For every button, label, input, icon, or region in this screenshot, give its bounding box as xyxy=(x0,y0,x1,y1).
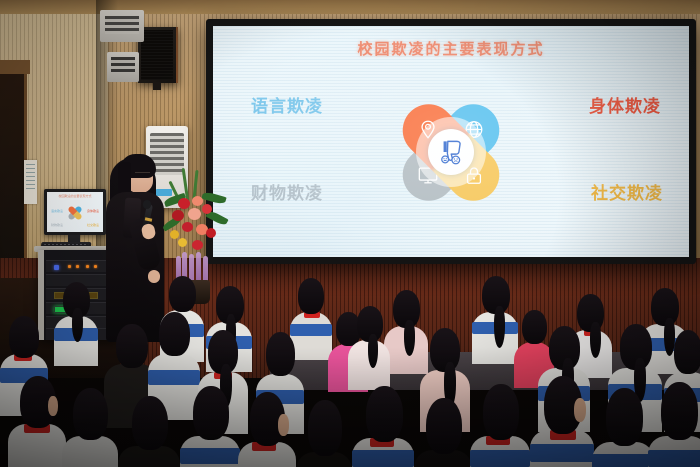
ac-vent-lower xyxy=(107,52,139,82)
student xyxy=(648,382,700,467)
photo-scene: 校园欺凌的主要表现方式 xyxy=(0,0,700,467)
student xyxy=(470,384,530,467)
monitor-label-2: 身体欺凌 xyxy=(87,209,99,213)
presentation-slide: 校园欺凌的主要表现方式 xyxy=(213,26,689,257)
ac-vent-upper xyxy=(100,10,144,42)
slide-label-social-bullying: 社交欺凌 xyxy=(591,179,663,204)
student xyxy=(592,388,654,467)
student xyxy=(62,388,118,467)
monitor-label-4: 社交欺凌 xyxy=(87,223,99,227)
student xyxy=(414,398,472,467)
slide-label-verbal-bullying: 语言欺凌 xyxy=(251,92,323,117)
student xyxy=(54,282,98,362)
student xyxy=(238,392,296,467)
slide-label-physical-bullying: 身体欺凌 xyxy=(589,92,661,117)
monitor-screen: 校园欺凌的主要表现方式 语言欺凌 身体欺凌 财物欺凌 社交欺凌 xyxy=(47,192,103,232)
wall-notice-paper xyxy=(24,160,37,204)
audience xyxy=(0,268,700,467)
wall-speaker xyxy=(138,27,178,83)
slide-title: 校园欺凌的主要表现方式 xyxy=(213,38,689,59)
speaker-grill xyxy=(141,30,173,80)
x-diagram xyxy=(374,82,528,222)
monitor-slide-title: 校园欺凌的主要表现方式 xyxy=(47,194,103,198)
microphone-head xyxy=(143,200,151,209)
student xyxy=(352,386,414,467)
monitor-x-diagram xyxy=(66,204,84,222)
student xyxy=(118,396,180,467)
projection-screen: 校园欺凌的主要表现方式 xyxy=(206,19,696,264)
presenter-glasses xyxy=(135,172,150,177)
monitor-label-3: 财物欺凌 xyxy=(51,223,63,227)
student xyxy=(180,386,240,467)
thumbs-down-icon xyxy=(428,129,474,175)
student xyxy=(8,376,66,467)
student xyxy=(530,376,594,467)
confidence-monitor: 校园欺凌的主要表现方式 语言欺凌 身体欺凌 财物欺凌 社交欺凌 xyxy=(44,189,106,235)
door-frame xyxy=(0,60,30,74)
monitor-label-1: 语言欺凌 xyxy=(51,209,63,213)
student xyxy=(472,276,518,360)
student xyxy=(296,400,352,467)
student xyxy=(348,306,390,386)
slide-label-property-bullying: 财物欺凌 xyxy=(251,179,323,204)
